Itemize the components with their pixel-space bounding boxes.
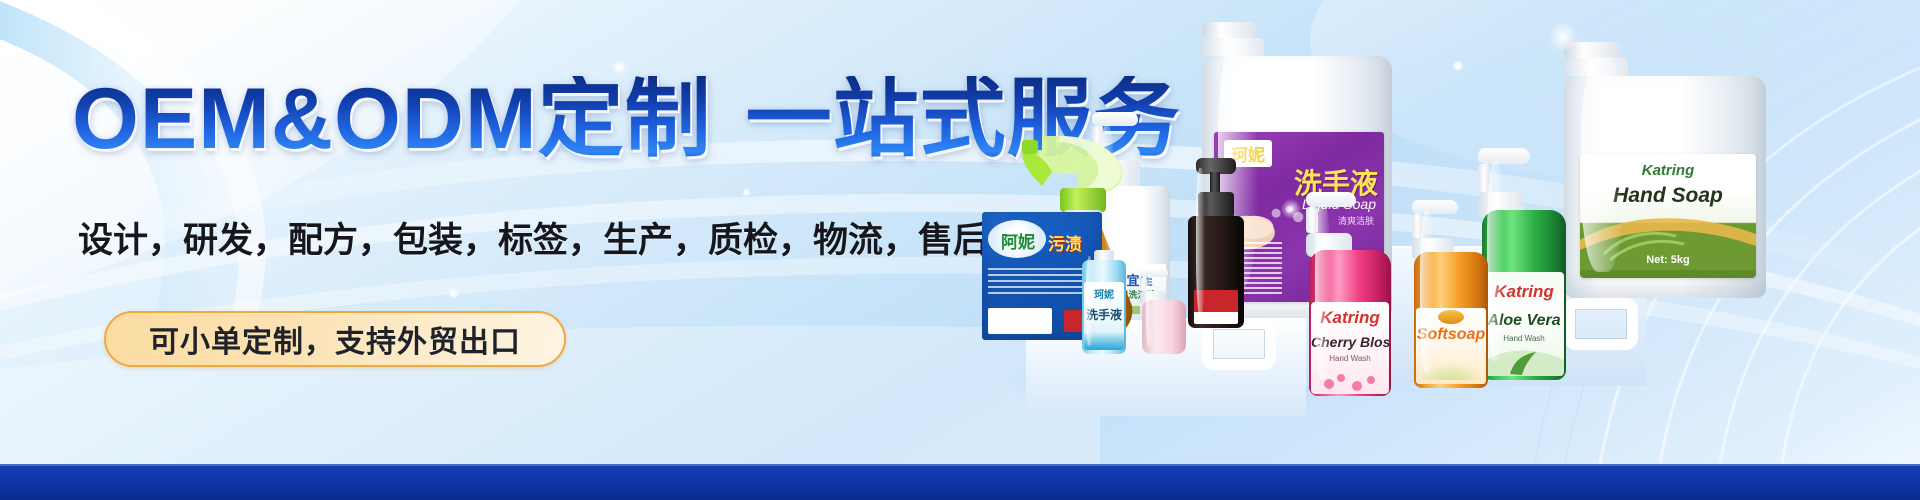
product-label <box>1194 290 1238 324</box>
label-brand: Softsoap <box>1416 326 1486 344</box>
label-product-name: Hand Soap <box>1580 184 1756 208</box>
label-brand: Katring <box>1484 282 1564 302</box>
label-brand: Katring <box>1311 308 1389 328</box>
sparkle-icon <box>1280 198 1302 220</box>
product-label: Katring Hand Soap Net: 5kg <box>1580 154 1756 278</box>
service-list-subtitle: 设计，研发，配方，包装，标签，生产，质检，物流，售后 <box>78 212 988 263</box>
label-product-name: 洗手液 <box>1084 306 1124 323</box>
product-black-pump-bottle <box>1186 158 1248 328</box>
label-brand: Katring <box>1580 162 1756 179</box>
promo-banner: OEM&ODM定制一站式服务 设计，研发，配方，包装，标签，生产，质检，物流，售… <box>0 0 1920 500</box>
banner-text-block: OEM&ODM定制一站式服务 设计，研发，配方，包装，标签，生产，质检，物流，售… <box>0 0 1000 420</box>
product-small-pump-bottle <box>1140 268 1188 354</box>
headline-part1: OEM&ODM定制 <box>72 71 712 167</box>
product-label: 珂妮 洗手液 <box>1084 282 1124 350</box>
product-small-sanitizer-bottle: 珂妮 洗手液 <box>1080 250 1128 354</box>
product-green-label-jug: Katring Hand Soap Net: 5kg <box>1564 42 1778 292</box>
product-orange-softsoap-bottle: Softsoap <box>1412 200 1492 388</box>
label-product-name: Aloe Vera <box>1484 312 1564 330</box>
sparkle-icon <box>1546 20 1580 54</box>
label-product-name: Cherry Blossom <box>1311 334 1389 350</box>
bottom-bar <box>0 464 1920 500</box>
badge-label: 可小单定制，支持外贸出口 <box>149 317 521 361</box>
product-label: Softsoap <box>1416 308 1486 384</box>
label-brand: 珂妮 <box>1084 286 1124 301</box>
label-product-subtitle: Hand Wash <box>1311 354 1389 363</box>
status-badge: 可小单定制，支持外贸出口 <box>104 311 566 367</box>
label-product-name: 污渍 <box>1048 230 1082 255</box>
label-brand: 阿妮 <box>996 228 1040 253</box>
product-label: Katring Aloe Vera Hand Wash <box>1484 272 1564 376</box>
label-net-weight: Net: 5kg <box>1580 254 1756 266</box>
product-cluster: Katring Hand Soap Net: 5kg <box>980 0 1920 470</box>
product-pink-katring-bottle: Katring Cherry Blossom Hand Wash <box>1306 192 1396 396</box>
product-label: Katring Cherry Blossom Hand Wash <box>1311 302 1389 394</box>
